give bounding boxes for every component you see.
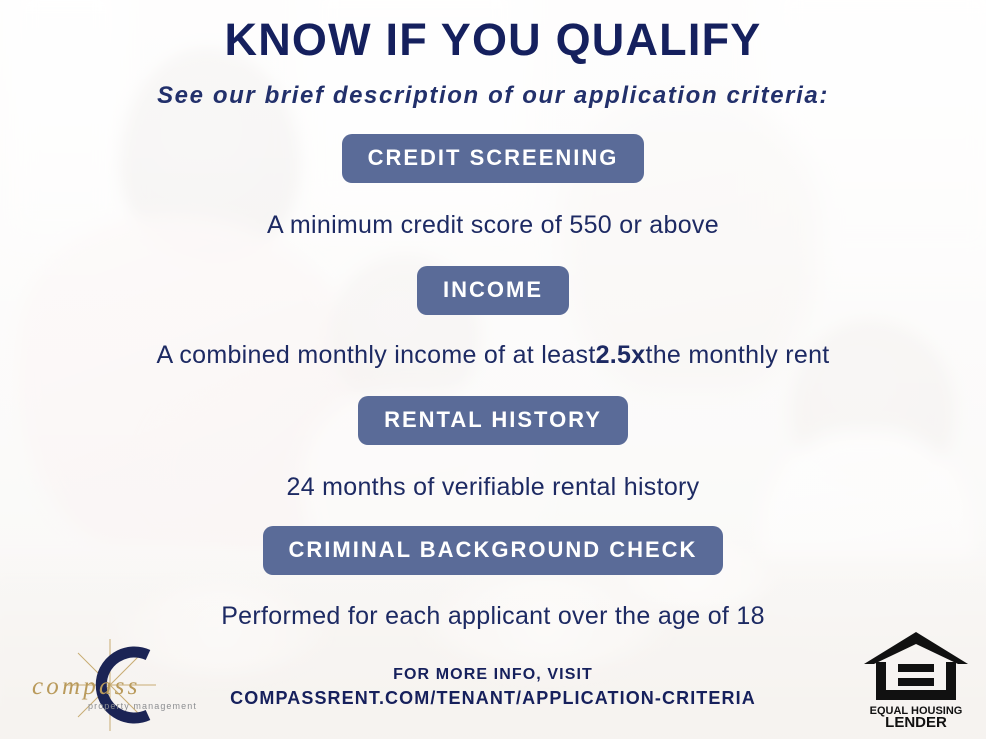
badge-income: INCOME [417, 266, 569, 315]
qualification-criteria-poster: KNOW IF YOU QUALIFY See our brief descri… [0, 0, 986, 739]
criteria-description-income-post: the monthly rent [645, 341, 829, 369]
criteria-badge-row-criminal: CRIMINAL BACKGROUND CHECK [0, 526, 986, 575]
house-icon [864, 632, 968, 700]
compass-logo: compass property management [22, 637, 212, 733]
badge-criminal-background-check: CRIMINAL BACKGROUND CHECK [263, 526, 724, 575]
badge-credit-screening: CREDIT SCREENING [342, 134, 645, 183]
criteria-badge-row-income: INCOME [0, 266, 986, 315]
page-title: KNOW IF YOU QUALIFY [0, 16, 986, 63]
page-subtitle: See our brief description of our applica… [0, 82, 986, 110]
criteria-description-income-pre: A combined monthly income of at least [156, 341, 595, 369]
compass-tagline: property management [88, 701, 197, 711]
equal-housing-line2: LENDER [885, 714, 947, 728]
criteria-description-rental: 24 months of verifiable rental history [0, 473, 986, 502]
criteria-description-credit: A minimum credit score of 550 or above [0, 211, 986, 240]
criteria-description-income: A combined monthly income of at least2.5… [0, 341, 986, 370]
badge-rental-history: RENTAL HISTORY [358, 396, 628, 445]
criteria-description-criminal: Performed for each applicant over the ag… [0, 602, 986, 631]
equal-housing-lender-logo: EQUAL HOUSING LENDER [860, 628, 972, 728]
criteria-description-income-emphasis: 2.5x [596, 341, 646, 369]
poster-content: KNOW IF YOU QUALIFY See our brief descri… [0, 0, 986, 739]
compass-wordmark: compass [32, 673, 141, 700]
criteria-badge-row-credit: CREDIT SCREENING [0, 134, 986, 183]
criteria-badge-row-rental: RENTAL HISTORY [0, 396, 986, 445]
